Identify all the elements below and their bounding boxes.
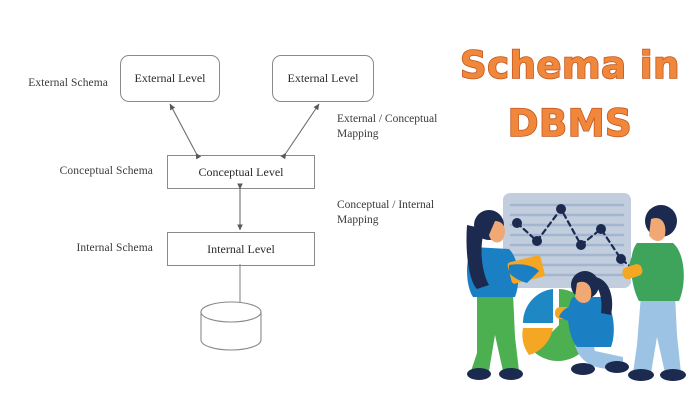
team-data-analysis-illustration	[455, 185, 700, 385]
mapping-note-line1: External / Conceptual	[337, 112, 437, 127]
node-internal-level[interactable]: Internal Level	[167, 232, 315, 266]
schema-in-dbms-infographic: External Schema Conceptual Schema Intern…	[0, 0, 700, 420]
mapping-note-external-conceptual: External / Conceptual Mapping	[337, 112, 437, 142]
arrow-ext1-conceptual	[170, 104, 196, 153]
mapping-note-line2: Mapping	[337, 127, 437, 142]
label-external-schema: External Schema	[8, 77, 108, 89]
arrow-ext2-conceptual	[286, 104, 319, 153]
label-internal-schema: Internal Schema	[45, 242, 153, 254]
mapping-note-line2: Mapping	[337, 213, 434, 228]
node-conceptual-level[interactable]: Conceptual Level	[167, 155, 315, 189]
database-cylinder-icon	[201, 302, 261, 350]
mapping-note-line1: Conceptual / Internal	[337, 198, 434, 213]
mapping-note-conceptual-internal: Conceptual / Internal Mapping	[337, 198, 434, 228]
page-title-line1: Schema in	[455, 44, 685, 87]
node-external-level-1[interactable]: External Level	[120, 55, 220, 102]
page-title-line2: DBMS	[455, 102, 685, 145]
node-external-level-2[interactable]: External Level	[272, 55, 374, 102]
label-conceptual-schema: Conceptual Schema	[28, 165, 153, 177]
